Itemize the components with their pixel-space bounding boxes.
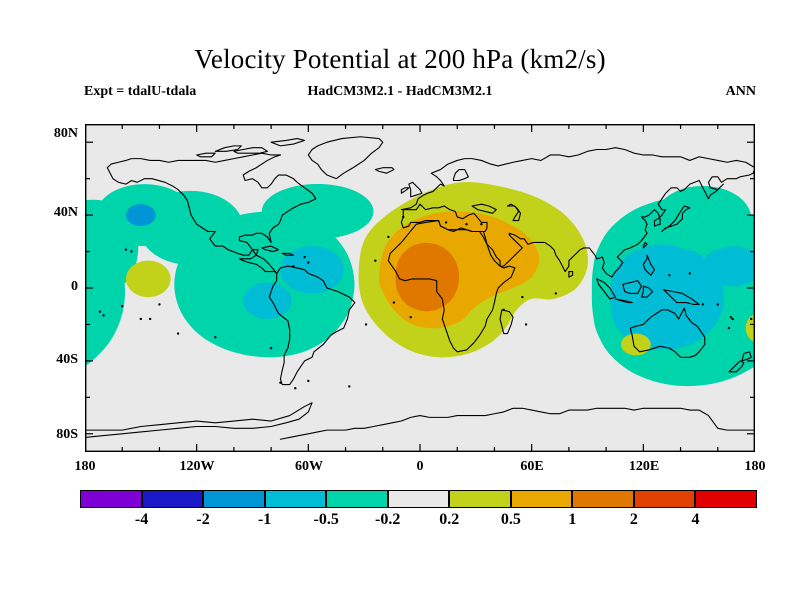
colorbar-segment[interactable]	[511, 490, 573, 508]
island-marker	[480, 223, 482, 225]
colorbar-segment[interactable]	[203, 490, 265, 508]
contour-band	[621, 334, 651, 356]
world-map-contour-svg	[85, 124, 755, 452]
island-marker	[102, 314, 104, 316]
island-marker	[294, 387, 296, 389]
contour-band	[655, 186, 752, 252]
island-marker	[521, 296, 523, 298]
colorbar-tick-label: 4	[665, 511, 725, 529]
colorbar-tick-label: -0.2	[358, 511, 418, 529]
island-marker	[445, 221, 447, 223]
colorbar-tick-label: 0.5	[481, 511, 541, 529]
island-marker	[465, 223, 467, 225]
island-marker	[387, 236, 389, 238]
island-marker	[348, 385, 350, 387]
colorbar-segment[interactable]	[634, 490, 696, 508]
colorbar-tick-label: -1	[235, 511, 295, 529]
island-marker	[393, 301, 395, 303]
y-tick-label-80n: 80N	[32, 126, 78, 142]
x-tick-label-180e: 180	[725, 459, 785, 475]
y-tick-label-0: 0	[32, 279, 78, 295]
island-marker	[292, 265, 294, 267]
island-marker	[303, 256, 305, 258]
island-marker	[503, 309, 505, 311]
island-marker	[307, 380, 309, 382]
colorbar-segment[interactable]	[572, 490, 634, 508]
island-marker	[125, 249, 127, 251]
contour-band	[262, 184, 374, 239]
island-marker	[689, 272, 691, 274]
colorbar-segment[interactable]	[326, 490, 388, 508]
colorbar-segment[interactable]	[695, 490, 757, 508]
colorbar-tick-label: -2	[173, 511, 233, 529]
y-tick-label-40s: 40S	[32, 352, 78, 368]
x-tick-label-180w: 180	[55, 459, 115, 475]
contour-band	[395, 243, 459, 311]
model-comparison-label: HadCM3M2.1 - HadCM3M2.1	[0, 84, 800, 100]
x-tick-label-60w: 60W	[279, 459, 339, 475]
island-marker	[730, 316, 732, 318]
x-tick-label-120w: 120W	[167, 459, 227, 475]
y-tick-label-40n: 40N	[32, 205, 78, 221]
island-marker	[668, 274, 670, 276]
colorbar[interactable]	[80, 490, 757, 508]
colorbar-tick-label: -4	[112, 511, 172, 529]
island-marker	[731, 318, 733, 320]
island-marker	[409, 316, 411, 318]
island-marker	[374, 259, 376, 261]
island-marker	[158, 303, 160, 305]
island-marker	[750, 318, 752, 320]
island-marker	[214, 336, 216, 338]
island-marker	[149, 318, 151, 320]
island-marker	[525, 323, 527, 325]
y-tick-label-80s: 80S	[32, 427, 78, 443]
island-marker	[99, 310, 101, 312]
colorbar-tick-label: 2	[604, 511, 664, 529]
island-marker	[702, 303, 704, 305]
colorbar-tick-label: -0.5	[296, 511, 356, 529]
colorbar-segment[interactable]	[80, 490, 142, 508]
colorbar-segment[interactable]	[388, 490, 450, 508]
colorbar-segment[interactable]	[449, 490, 511, 508]
contour-band	[126, 261, 171, 297]
island-marker	[177, 332, 179, 334]
contour-band	[126, 204, 156, 226]
x-tick-label-0: 0	[390, 459, 450, 475]
island-marker	[270, 347, 272, 349]
colorbar-segment[interactable]	[142, 490, 204, 508]
island-marker	[307, 261, 309, 263]
page-title: Velocity Potential at 200 hPa (km2/s)	[0, 44, 800, 75]
island-marker	[555, 292, 557, 294]
island-marker	[402, 216, 404, 218]
island-marker	[279, 382, 281, 384]
season-label: ANN	[726, 84, 756, 100]
island-marker	[130, 250, 132, 252]
map-plot-area	[85, 124, 755, 452]
contour-band	[243, 283, 291, 319]
colorbar-segment[interactable]	[265, 490, 327, 508]
island-marker	[728, 327, 730, 329]
colorbar-tick-label: 0.2	[419, 511, 479, 529]
x-tick-label-120e: 120E	[614, 459, 674, 475]
x-tick-label-60e: 60E	[502, 459, 562, 475]
island-marker	[717, 303, 719, 305]
island-marker	[365, 323, 367, 325]
colorbar-tick-label: 1	[542, 511, 602, 529]
island-marker	[121, 305, 123, 307]
figure-root: Velocity Potential at 200 hPa (km2/s) Ex…	[0, 0, 800, 600]
island-marker	[140, 318, 142, 320]
